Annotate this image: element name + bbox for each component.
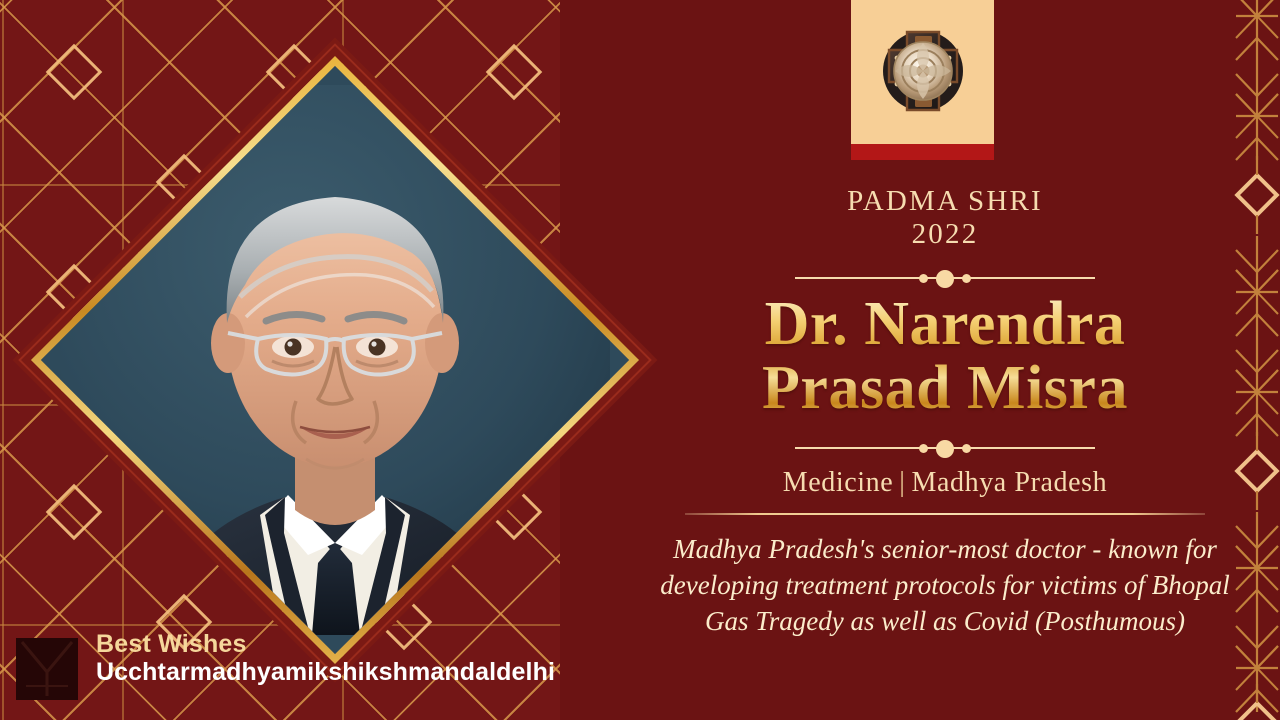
portrait-frame [30, 28, 640, 692]
section-rule [685, 513, 1205, 515]
award-details: PADMA SHRI 2022 Dr. Narendra Prasad Misr… [650, 0, 1240, 720]
decorative-pattern-right [1234, 0, 1280, 720]
award-state: Madhya Pradesh [911, 467, 1107, 498]
category-line: Medicine|Madhya Pradesh [650, 467, 1240, 499]
laureate-name-line-2: Prasad Misra [650, 357, 1240, 421]
divider-bottom [795, 439, 1095, 457]
portrait-illustration-icon [60, 85, 610, 635]
field-state-separator: | [893, 467, 911, 498]
best-wishes-label: Best Wishes [96, 630, 555, 658]
award-card: PADMA SHRI 2022 Dr. Narendra Prasad Misr… [0, 0, 1280, 720]
diamond-gold-border [31, 56, 639, 664]
ornamental-strip-icon [1234, 0, 1280, 720]
laureate-name: Dr. Narendra Prasad Misra [650, 293, 1240, 421]
divider-top [795, 269, 1095, 287]
award-year: 2022 [650, 219, 1240, 251]
best-wishes-block: Best Wishes Ucchtarmadhyamikshikshmandal… [16, 630, 616, 702]
award-title: PADMA SHRI [650, 0, 1240, 219]
portrait-photo [41, 66, 629, 654]
laureate-name-line-1: Dr. Narendra [650, 293, 1240, 357]
organisation-logo-icon [16, 638, 78, 700]
award-field: Medicine [783, 467, 894, 498]
organisation-name: Ucchtarmadhyamikshikshmandaldelhi [96, 658, 555, 686]
citation-text: Madhya Pradesh's senior-most doctor - kn… [655, 531, 1235, 640]
